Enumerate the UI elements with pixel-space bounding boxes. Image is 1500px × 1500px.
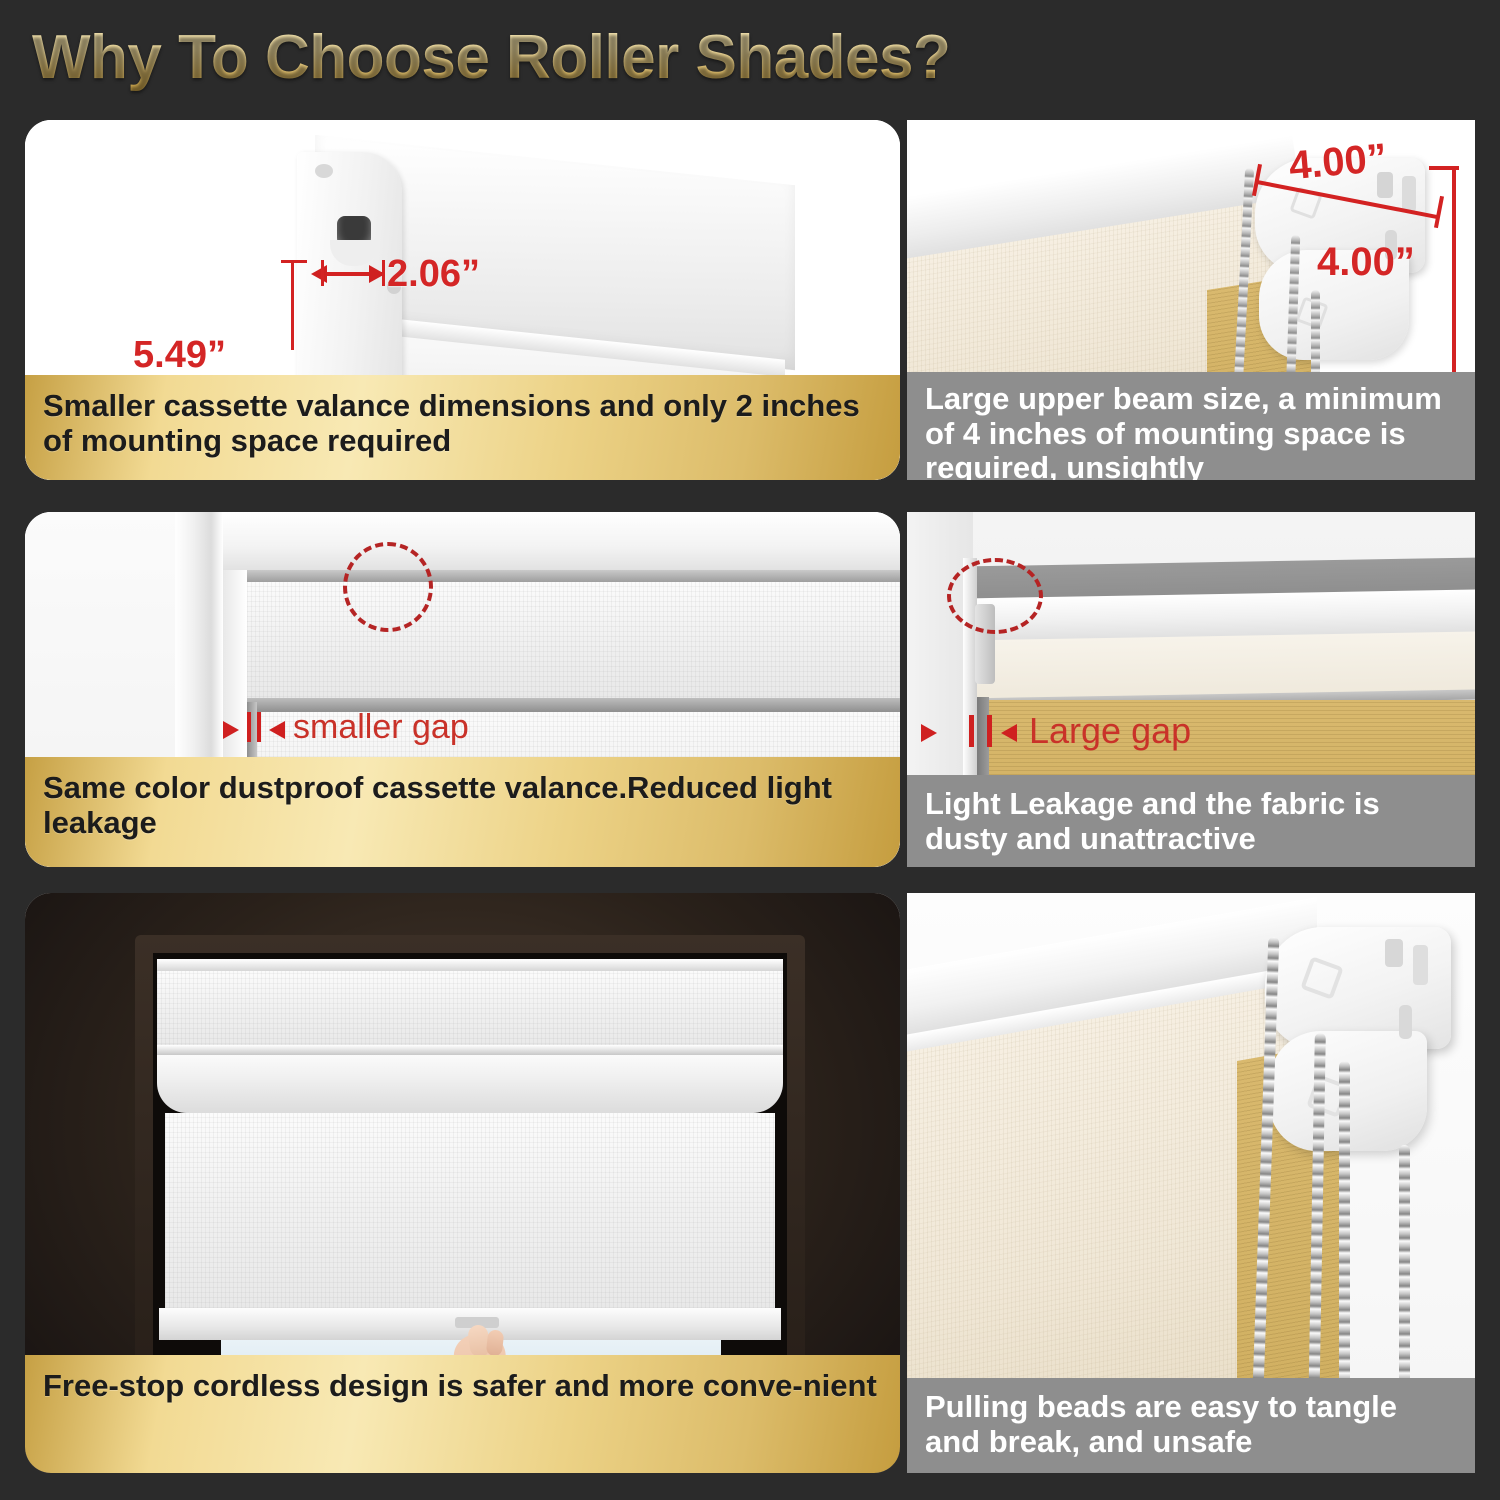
gap-label: smaller gap (293, 708, 469, 747)
dimension-arrow-left (311, 265, 327, 283)
page-title: Why To Choose Roller Shades? (32, 22, 1132, 94)
gap-arrow-right (921, 724, 937, 742)
gap-arrow-left (1001, 724, 1017, 742)
highlight-circle-gap (343, 542, 433, 632)
dimension-label-height: 5.49” (133, 334, 226, 377)
dimension-label-width: 4.00” (1287, 136, 1388, 189)
caption-text: Same color dustproof cassette valance.Re… (43, 771, 882, 840)
caption-text: Smaller cassette valance dimensions and … (43, 389, 882, 458)
caption-text: Light Leakage and the fabric is dusty an… (925, 787, 1457, 856)
dimension-line-height (291, 260, 294, 350)
caption-text: Free-stop cordless design is safer and m… (43, 1369, 877, 1404)
panel-bottom-right: Pulling beads are easy to tangle and bre… (907, 893, 1475, 1473)
caption-bottom-left: Free-stop cordless design is safer and m… (25, 1355, 900, 1473)
caption-top-right: Large upper beam size, a minimum of 4 in… (907, 372, 1475, 480)
gap-label: Large gap (1029, 710, 1191, 752)
highlight-circle-gap (947, 558, 1043, 634)
caption-text: Large upper beam size, a minimum of 4 in… (925, 382, 1457, 480)
panel-mid-left: smaller gap Same color dustproof cassett… (25, 512, 900, 867)
caption-mid-left: Same color dustproof cassette valance.Re… (25, 757, 900, 867)
panel-bottom-left: Free-stop cordless design is safer and m… (25, 893, 900, 1473)
caption-mid-right: Light Leakage and the fabric is dusty an… (907, 775, 1475, 867)
dimension-label-height: 4.00” (1317, 240, 1415, 285)
panel-mid-right: Large gap Light Leakage and the fabric i… (907, 512, 1475, 867)
panel-top-left: 2.06” 5.49” Smaller cassette valance dim… (25, 120, 900, 480)
caption-text: Pulling beads are easy to tangle and bre… (925, 1390, 1457, 1459)
caption-bottom-right: Pulling beads are easy to tangle and bre… (907, 1378, 1475, 1473)
dimension-label-width: 2.06” (387, 253, 480, 296)
panel-top-right: 4.00” 4.00” Large upper beam size, a min… (907, 120, 1475, 480)
caption-top-left: Smaller cassette valance dimensions and … (25, 375, 900, 480)
